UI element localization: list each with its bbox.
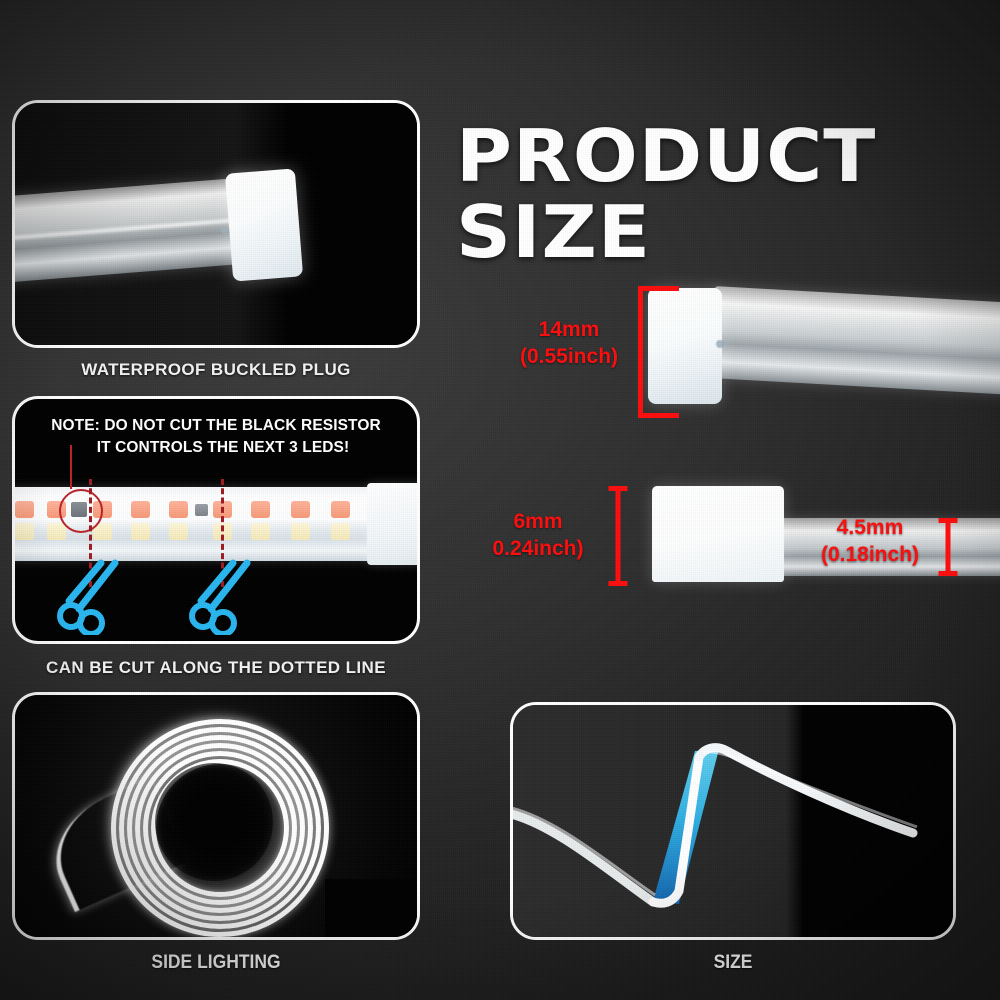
dimension-line-6mm: [608, 486, 627, 586]
led-chip: [291, 523, 310, 540]
note-line-2: IT CONTROLS THE NEXT 3 LEDS!: [15, 437, 417, 459]
black-resistor: [195, 504, 208, 516]
dimension-cap-bottom: [608, 581, 627, 586]
cap-vent-dot: [221, 227, 228, 234]
led-chip: [15, 523, 34, 540]
photo-corner-mask: [325, 879, 417, 937]
dimension-label-4-5mm: 4.5mm (0.18inch): [800, 514, 940, 568]
product-tube-upper: [709, 286, 1000, 395]
dimension-inch-6: 0.24inch): [492, 537, 583, 560]
caption-cut-line: CAN BE CUT ALONG THE DOTTED LINE: [12, 658, 420, 678]
dimension-cap-top: [608, 486, 627, 491]
led-chip: [131, 501, 150, 518]
panel-size: [510, 702, 956, 940]
dimension-line-4-5mm: [938, 518, 957, 576]
product-size-infographic: PRODUCT SIZE WATERPROOF BUCKLED PLUG NOT…: [0, 0, 1000, 1000]
end-cap-shape: [225, 168, 303, 281]
led-chip: [331, 501, 350, 518]
dimension-label-6mm: 6mm 0.24inch): [466, 508, 610, 562]
coil-center-hole: [155, 763, 273, 881]
dimension-inch-4-5: (0.18inch): [821, 543, 919, 566]
cut-warning-note: NOTE: DO NOT CUT THE BLACK RESISTOR IT C…: [15, 415, 417, 459]
dimension-inch-14: (0.55inch): [520, 345, 618, 368]
dimension-mm-14: 14mm: [539, 318, 600, 341]
dimension-mm-6: 6mm: [513, 510, 562, 533]
led-chip: [131, 523, 150, 540]
led-chip: [169, 523, 188, 540]
panel-cut-line: NOTE: DO NOT CUT THE BLACK RESISTOR IT C…: [12, 396, 420, 644]
product-end-cap-lower: [652, 486, 784, 582]
resistor-highlight-circle: [59, 489, 103, 533]
panel-side-lighting: [12, 692, 420, 940]
dimension-bar: [945, 518, 950, 576]
caption-waterproof-plug: WATERPROOF BUCKLED PLUG: [12, 360, 420, 380]
scissors-icon: [57, 559, 131, 635]
led-chip: [251, 523, 270, 540]
scissors-icon: [189, 559, 263, 635]
dimension-cap-bottom: [938, 571, 957, 576]
led-chip: [291, 501, 310, 518]
product-vent-dot: [716, 340, 724, 348]
note-line-1: NOTE: DO NOT CUT THE BLACK RESISTOR: [51, 417, 381, 434]
caption-side-lighting: SIDE LIGHTING: [28, 952, 403, 974]
led-chip: [251, 501, 270, 518]
tube-seam: [12, 216, 255, 240]
dimension-mm-4-5: 4.5mm: [837, 516, 904, 539]
dimension-cap-top: [938, 518, 957, 523]
led-chip: [15, 501, 34, 518]
resistor-pointer-line: [70, 445, 72, 489]
dimension-bracket-14mm: [638, 286, 679, 418]
page-title: PRODUCT SIZE: [456, 118, 1000, 270]
plug-photo: [15, 103, 417, 345]
dimension-bar: [615, 486, 620, 586]
strip-end-cap-shape: [367, 483, 420, 565]
led-chip: [331, 523, 350, 540]
dimension-label-14mm: 14mm (0.55inch): [494, 316, 644, 370]
flexible-strip-shape: [513, 705, 956, 940]
flex-strip-photo: [513, 705, 953, 937]
panel-waterproof-plug: [12, 100, 420, 348]
caption-size: SIZE: [528, 952, 938, 974]
led-chip: [169, 501, 188, 518]
coil-photo: [15, 695, 417, 937]
led-chip: [47, 523, 66, 540]
